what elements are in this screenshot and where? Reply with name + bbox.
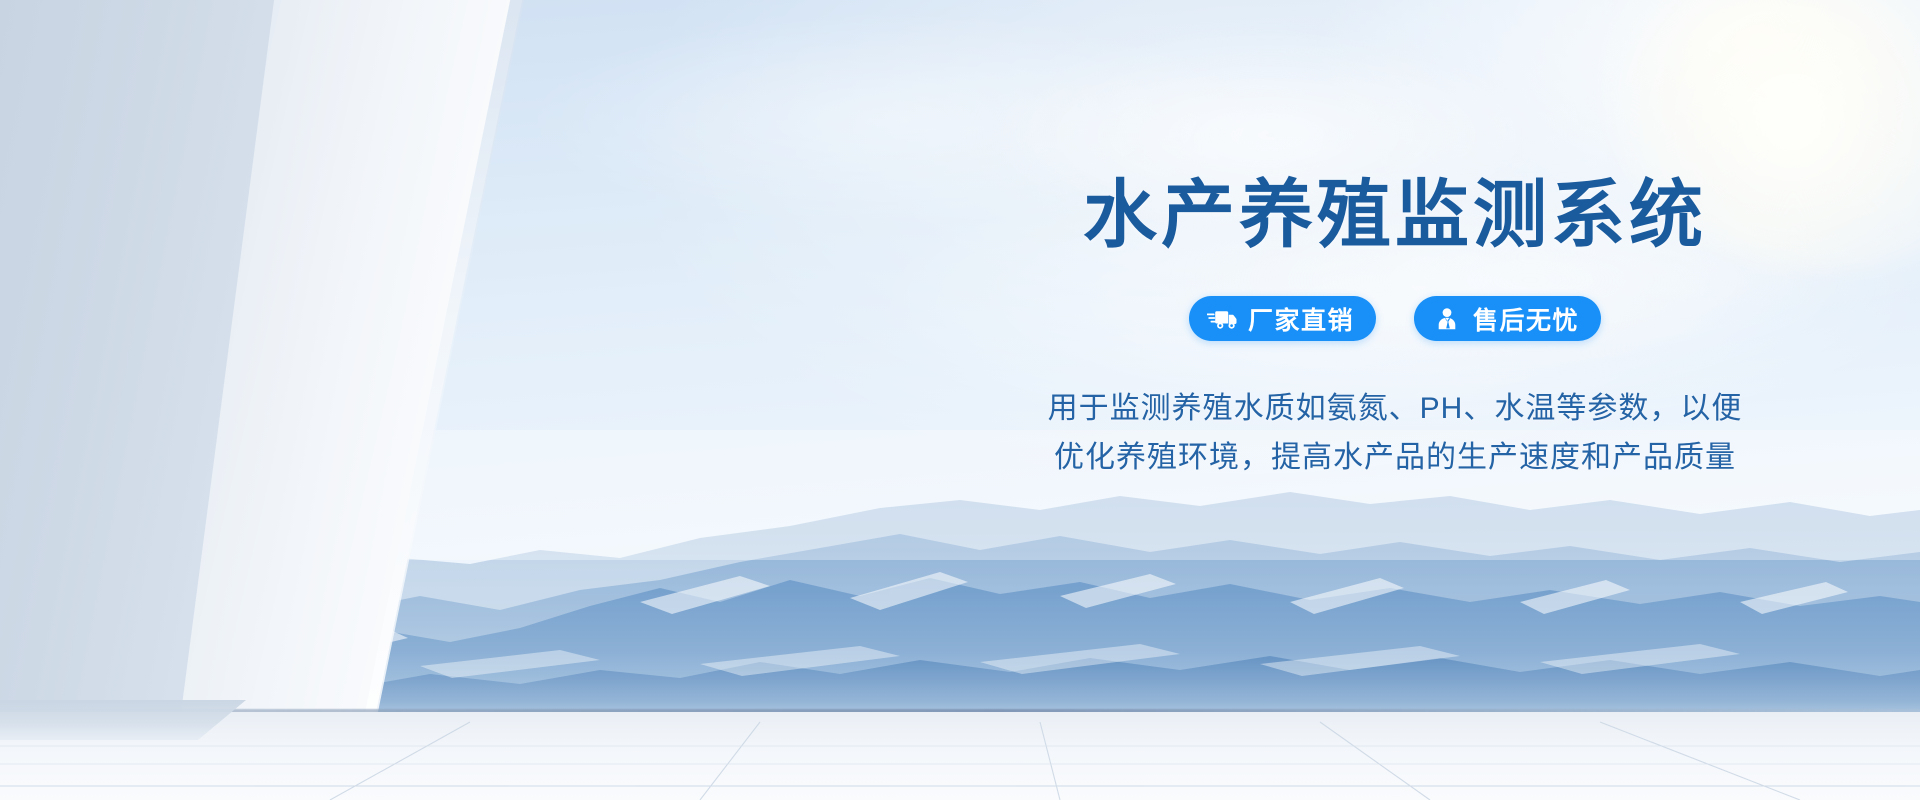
badge-label: 厂家直销 [1248, 301, 1354, 337]
description-line-1: 用于监测养殖水质如氨氮、PH、水温等参数，以便 [1048, 385, 1743, 434]
banner-content: 水产养殖监测系统 厂家直销 [930, 0, 1860, 800]
hero-banner: 水产养殖监测系统 厂家直销 [0, 0, 1920, 800]
truck-icon [1207, 306, 1237, 332]
support-person-icon [1432, 306, 1462, 332]
badge-after-sales[interactable]: 售后无忧 [1414, 296, 1601, 341]
badge-group: 厂家直销 售后无忧 [1189, 296, 1601, 341]
banner-description: 用于监测养殖水质如氨氮、PH、水温等参数，以便 优化养殖环境，提高水产品的生产速… [1048, 385, 1743, 482]
page-title: 水产养殖监测系统 [1083, 178, 1707, 252]
badge-label: 售后无忧 [1473, 301, 1579, 337]
description-line-2: 优化养殖环境，提高水产品的生产速度和产品质量 [1048, 434, 1743, 483]
badge-factory-direct[interactable]: 厂家直销 [1189, 296, 1376, 341]
